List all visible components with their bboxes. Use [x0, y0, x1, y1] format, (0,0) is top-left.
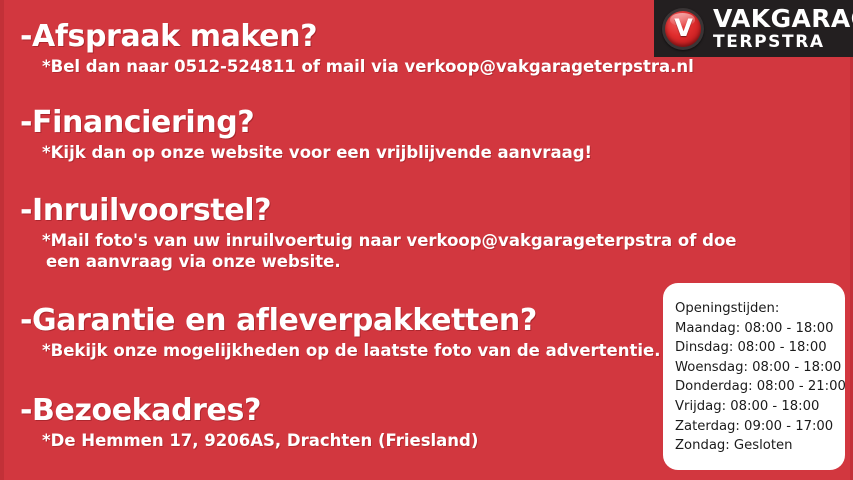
opening-hours-row-wednesday: Woensdag: 08:00 - 18:00: [675, 358, 845, 378]
section-afspraak-maken: -Afspraak maken? *Bel dan naar 0512-5248…: [20, 22, 694, 77]
left-edge-stripe: [0, 0, 4, 480]
brand-subname: TERPSTRA: [713, 34, 853, 51]
opening-hours-row-tuesday: Dinsdag: 08:00 - 18:00: [675, 338, 845, 358]
section-heading: -Bezoekadres?: [20, 396, 478, 426]
section-heading: -Afspraak maken?: [20, 22, 694, 52]
section-detail-line: *Kijk dan op onze website voor een vrijb…: [42, 143, 592, 162]
section-detail-line: *Bel dan naar 0512-524811 of mail via ve…: [42, 57, 694, 76]
brand-name: VAKGARAGE: [713, 6, 853, 31]
section-detail-line: *De Hemmen 17, 9206AS, Drachten (Friesla…: [42, 431, 478, 450]
opening-hours-row-thursday: Donderdag: 08:00 - 21:00: [675, 377, 845, 397]
opening-hours-title: Openingstijden:: [675, 299, 845, 319]
section-detail: *Bel dan naar 0512-524811 of mail via ve…: [42, 56, 694, 77]
section-inruilvoorstel: -Inruilvoorstel? *Mail foto's van uw inr…: [20, 196, 737, 272]
emblem-letter: V: [674, 16, 692, 40]
opening-hours-row-sunday: Zondag: Gesloten: [675, 436, 845, 456]
section-heading: -Inruilvoorstel?: [20, 196, 737, 226]
section-bezoekadres: -Bezoekadres? *De Hemmen 17, 9206AS, Dra…: [20, 396, 478, 451]
brand-wordmark: VAKGARAGE TERPSTRA: [713, 6, 853, 51]
section-detail-line-continued: een aanvraag via onze website.: [46, 251, 737, 272]
section-heading: -Garantie en afleverpakketten?: [20, 306, 660, 336]
section-detail: *Kijk dan op onze website voor een vrijb…: [42, 142, 592, 163]
opening-hours-row-monday: Maandag: 08:00 - 18:00: [675, 319, 845, 339]
opening-hours-card: Openingstijden: Maandag: 08:00 - 18:00 D…: [663, 283, 845, 470]
section-heading: -Financiering?: [20, 108, 592, 138]
section-garantie-afleverpakketten: -Garantie en afleverpakketten? *Bekijk o…: [20, 306, 660, 361]
section-detail: *Mail foto's van uw inruilvoertuig naar …: [42, 230, 737, 272]
section-detail: *Bekijk onze mogelijkheden op de laatste…: [42, 340, 660, 361]
opening-hours-row-saturday: Zaterdag: 09:00 - 17:00: [675, 417, 845, 437]
section-detail-line: *Mail foto's van uw inruilvoertuig naar …: [42, 231, 737, 250]
section-detail: *De Hemmen 17, 9206AS, Drachten (Friesla…: [42, 430, 478, 451]
section-detail-line: *Bekijk onze mogelijkheden op de laatste…: [42, 341, 660, 360]
section-financiering: -Financiering? *Kijk dan op onze website…: [20, 108, 592, 163]
opening-hours-row-friday: Vrijdag: 08:00 - 18:00: [675, 397, 845, 417]
advertisement-banner: V VAKGARAGE TERPSTRA -Afspraak maken? *B…: [0, 0, 853, 480]
